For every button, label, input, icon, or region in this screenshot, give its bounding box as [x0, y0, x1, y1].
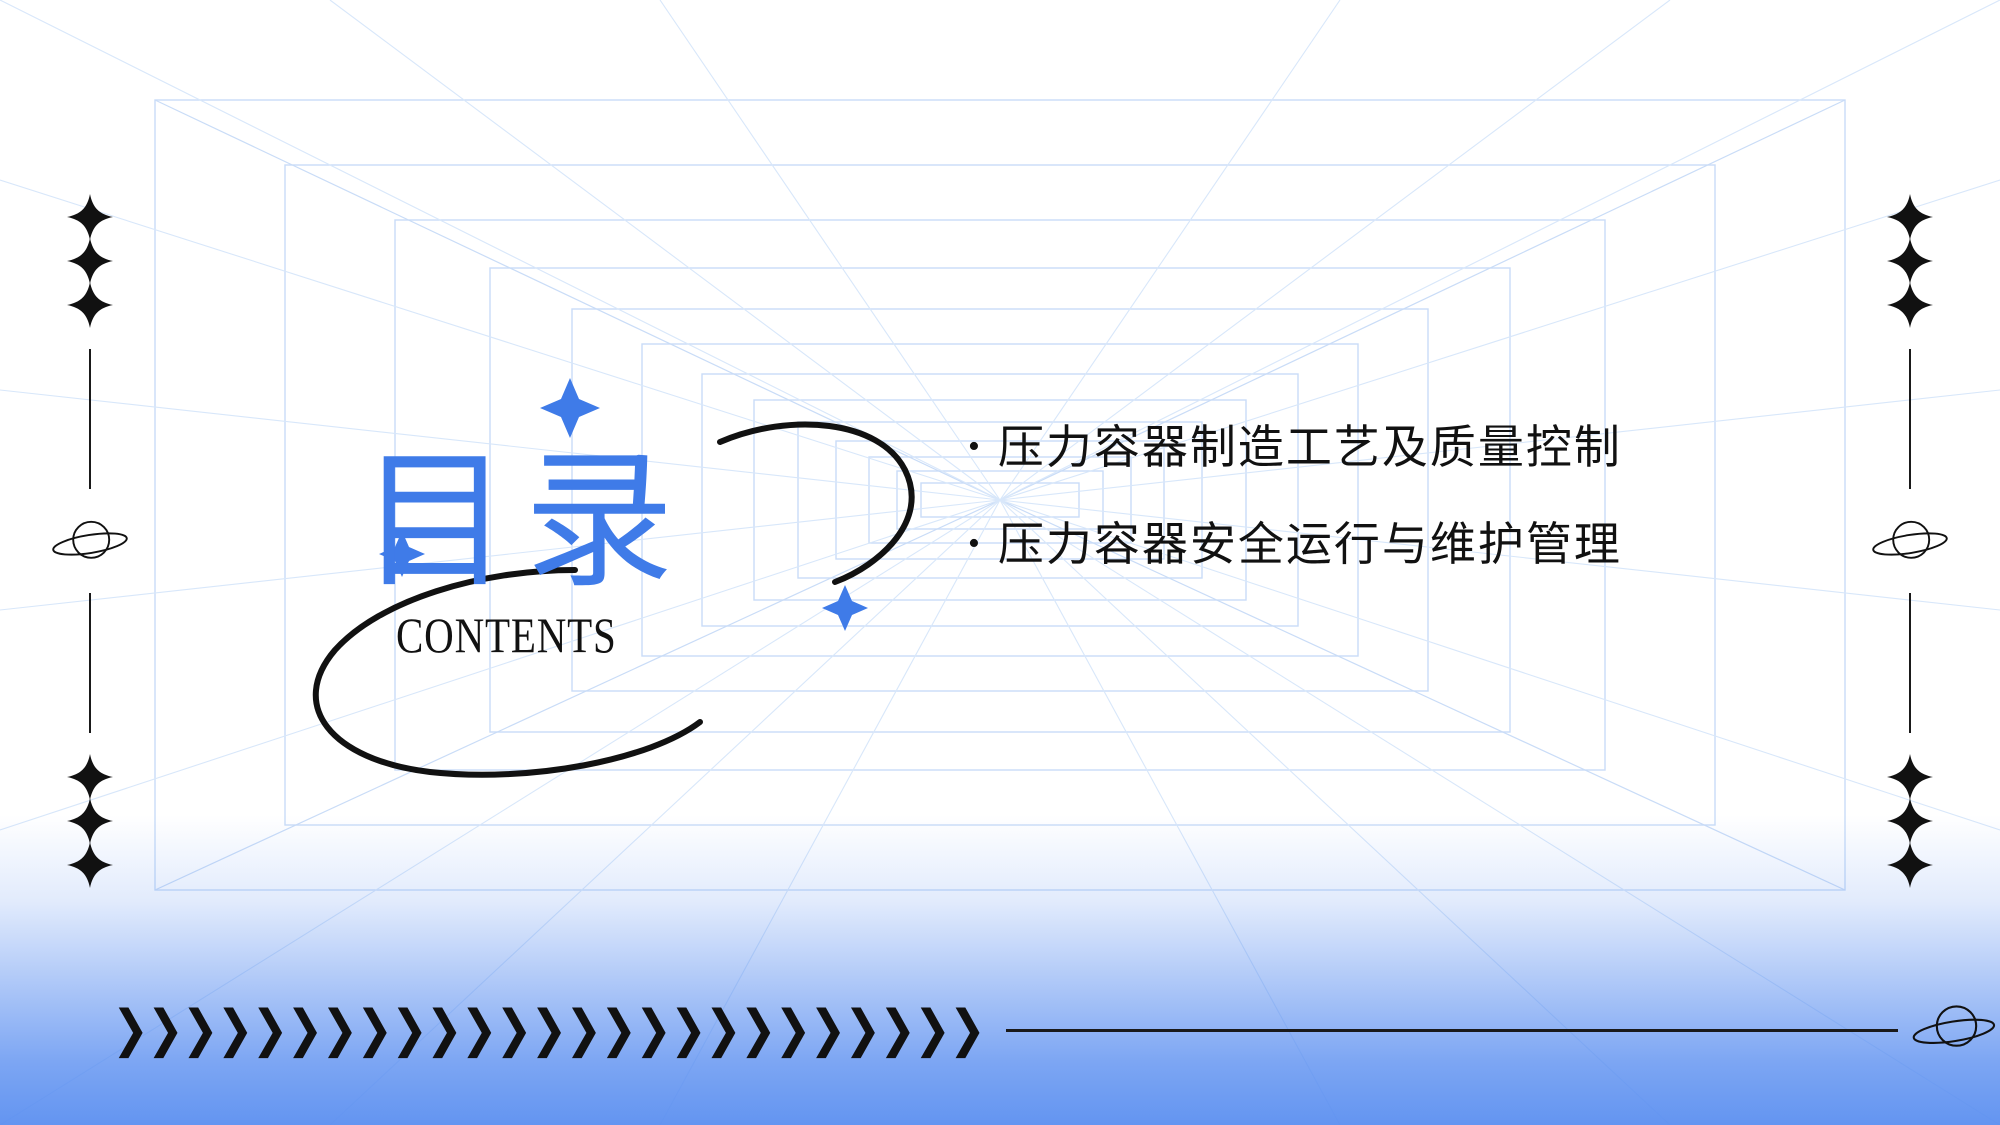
diamond-icon: [67, 842, 113, 888]
diamond-icon: [1887, 754, 1933, 800]
horizontal-rule: [1006, 1029, 1899, 1032]
diamond-icon: [1887, 194, 1933, 240]
diamond-icon: [1887, 842, 1933, 888]
page-title-cn: 目录: [360, 448, 688, 598]
vertical-line: [89, 593, 91, 733]
diamond-icon: [1887, 282, 1933, 328]
bullet-dot-icon: •: [968, 527, 980, 561]
left-decoration-rail: [30, 195, 150, 915]
vertical-line: [89, 349, 91, 489]
toc-item-list: • 压力容器制造工艺及质量控制 • 压力容器安全运行与维护管理: [968, 420, 1728, 614]
bottom-decoration-strip: ❯❯❯❯❯❯❯❯❯❯❯❯❯❯❯❯❯❯❯❯❯❯❯❯❯: [0, 985, 2000, 1075]
vertical-line: [1909, 593, 1911, 733]
page-title-en: CONTENTS: [396, 610, 617, 660]
toc-item-label: 压力容器安全运行与维护管理: [998, 517, 1622, 572]
planet-icon: [1868, 511, 1952, 571]
diamond-icon: [67, 282, 113, 328]
toc-item[interactable]: • 压力容器制造工艺及质量控制: [968, 420, 1728, 475]
right-decoration-rail: [1850, 195, 1970, 915]
planet-icon: [48, 511, 132, 571]
toc-item[interactable]: • 压力容器安全运行与维护管理: [968, 517, 1728, 572]
vertical-line: [1909, 349, 1911, 489]
bottom-gradient-band: [0, 815, 2000, 1125]
slide-canvas: 目录 CONTENTS • 压力容器制造工艺及质量控制 • 压力容器安全运行与维…: [0, 0, 2000, 1125]
diamond-icon: [67, 754, 113, 800]
planet-icon: [1908, 990, 2000, 1070]
chevron-arrow-row: ❯❯❯❯❯❯❯❯❯❯❯❯❯❯❯❯❯❯❯❯❯❯❯❯❯: [112, 1005, 984, 1056]
diamond-icon: [1887, 238, 1933, 284]
toc-title-block: 目录 CONTENTS: [300, 400, 920, 700]
diamond-icon: [1887, 798, 1933, 844]
bullet-dot-icon: •: [968, 430, 980, 464]
diamond-icon: [67, 194, 113, 240]
diamond-icon: [67, 238, 113, 284]
diamond-icon: [67, 798, 113, 844]
toc-item-label: 压力容器制造工艺及质量控制: [998, 420, 1622, 475]
